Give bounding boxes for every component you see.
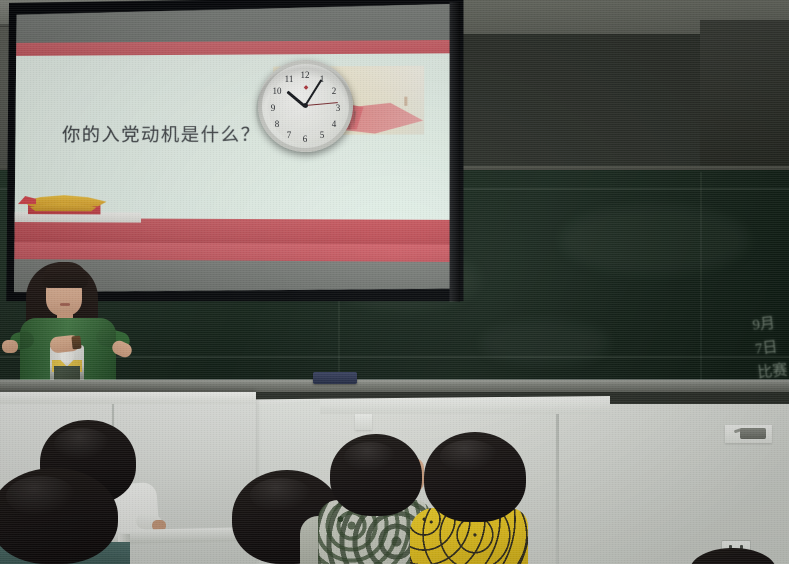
slide-canvas: 你的入党动机是什么？ — [14, 4, 450, 296]
screen-edge-highlight — [450, 2, 461, 302]
photo-speck — [404, 97, 407, 106]
classroom-photo: 入党动员大会 —农学11班 9月 7日 比赛 你的入党动机是什么？ — [0, 0, 789, 564]
chalk-eraser — [313, 372, 357, 384]
student-hair-highlight — [250, 478, 312, 512]
right-wall-dark-panel — [700, 20, 789, 180]
student-hair-highlight — [440, 440, 498, 472]
student-hair-highlight — [6, 476, 76, 516]
presenter-mouth — [60, 303, 70, 306]
clock-shadow — [256, 64, 355, 158]
presenter-wristwatch — [71, 336, 81, 350]
wall-panel-seam — [556, 404, 559, 564]
tiananmen-illustration — [14, 200, 450, 249]
presenter-hand-left — [2, 340, 18, 353]
chalk-ledge — [0, 380, 789, 392]
wall-switch-plate[interactable] — [355, 414, 372, 430]
student-hair-highlight — [54, 428, 110, 460]
infrared-receiver-icon[interactable] — [740, 428, 766, 439]
podium-top-surface — [0, 392, 256, 404]
student-hair-highlight — [344, 442, 396, 472]
